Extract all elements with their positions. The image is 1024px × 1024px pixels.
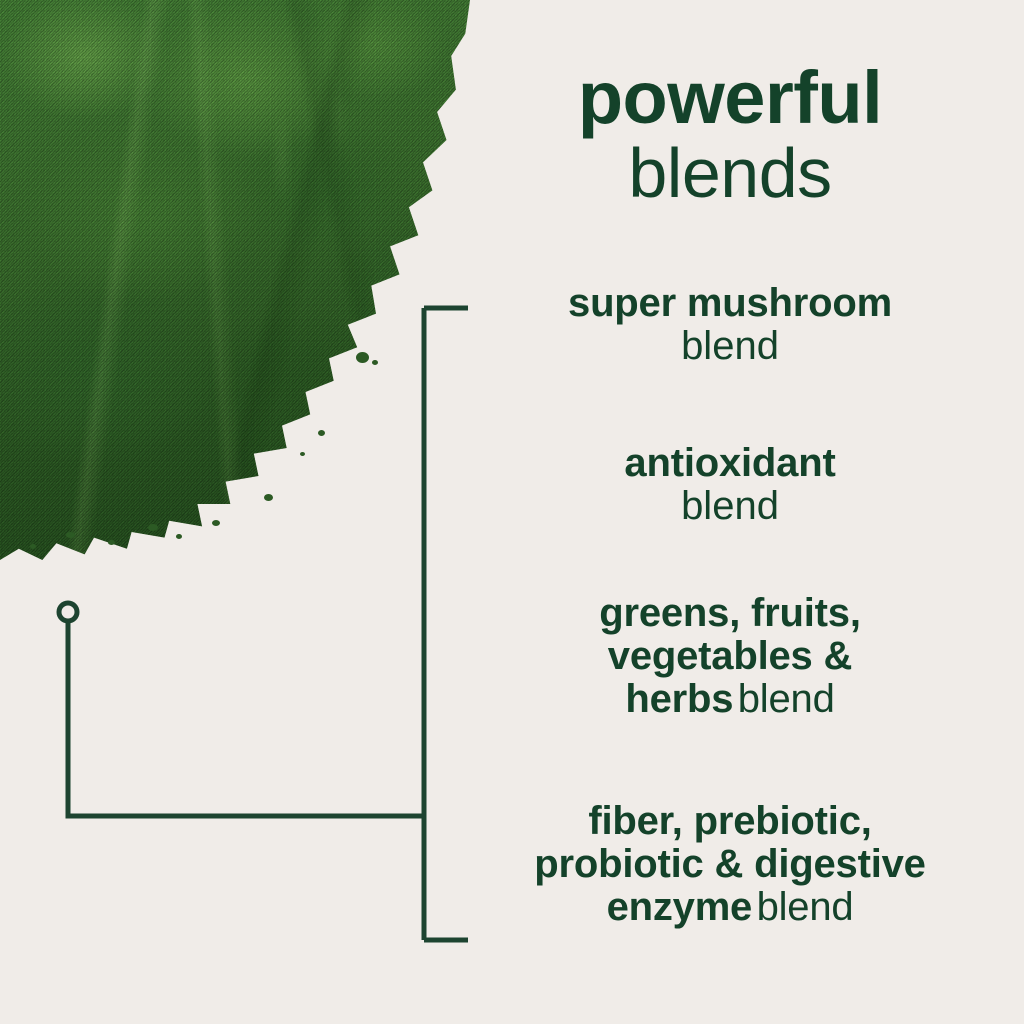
blend-name-line-3: herbs [625, 677, 733, 721]
blend-item-greens-fruits-vegetables-herbs: greens, fruits, vegetables & herbs blend [436, 592, 1024, 720]
page-title: powerful blends [436, 62, 1024, 207]
headline-line-1: powerful [436, 62, 1024, 135]
blend-name: super mushroom [568, 281, 892, 325]
blend-suffix: blend [738, 677, 835, 721]
blend-item-fiber-prebiotic-probiotic-digestive-enzyme: fiber, prebiotic, probiotic & digestive … [436, 800, 1024, 928]
blend-name-line-3: enzyme [607, 885, 753, 929]
blend-suffix: blend [436, 325, 1024, 368]
blend-item-antioxidant: antioxidant blend [436, 442, 1024, 528]
blend-suffix: blend [436, 485, 1024, 528]
blend-name: antioxidant [624, 441, 835, 485]
headline-line-2: blends [436, 139, 1024, 208]
blend-suffix: blend [757, 885, 854, 929]
blend-name-line-2: probiotic & digestive [436, 843, 1024, 886]
blend-name-line-2: vegetables & [436, 635, 1024, 678]
blend-name-line-1: greens, fruits, [436, 592, 1024, 635]
circle-node-terminal [59, 603, 77, 621]
blend-name-line-1: fiber, prebiotic, [436, 800, 1024, 843]
blend-item-super-mushroom: super mushroom blend [436, 282, 1024, 368]
promo-card: powerful blends super mushroom blend ant… [0, 0, 1024, 1024]
